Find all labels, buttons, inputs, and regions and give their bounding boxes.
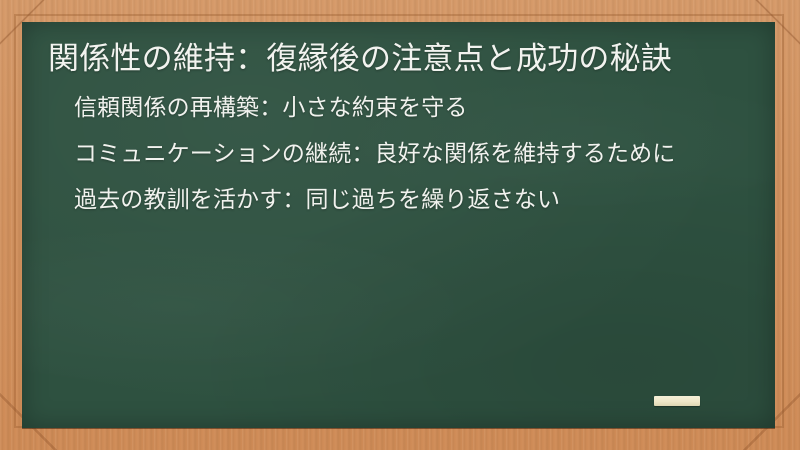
list-item: 信頼関係の再構築：小さな約束を守る xyxy=(74,92,724,124)
chalkboard-content: 関係性の維持：復縁後の注意点と成功の秘訣 信頼関係の再構築：小さな約束を守る コ… xyxy=(22,22,775,428)
chalk-stick-icon xyxy=(654,396,700,406)
list-item: コミュニケーションの継続：良好な関係を維持するために xyxy=(74,138,724,170)
bullet-list: 信頼関係の再構築：小さな約束を守る コミュニケーションの継続：良好な関係を維持す… xyxy=(48,92,749,215)
slide-canvas: 関係性の維持：復縁後の注意点と成功の秘訣 信頼関係の再構築：小さな約束を守る コ… xyxy=(0,0,800,450)
slide-title: 関係性の維持：復縁後の注意点と成功の秘訣 xyxy=(48,38,738,80)
list-item: 過去の教訓を活かす：同じ過ちを繰り返さない xyxy=(74,184,724,216)
chalkboard-surface: 関係性の維持：復縁後の注意点と成功の秘訣 信頼関係の再構築：小さな約束を守る コ… xyxy=(22,22,775,428)
